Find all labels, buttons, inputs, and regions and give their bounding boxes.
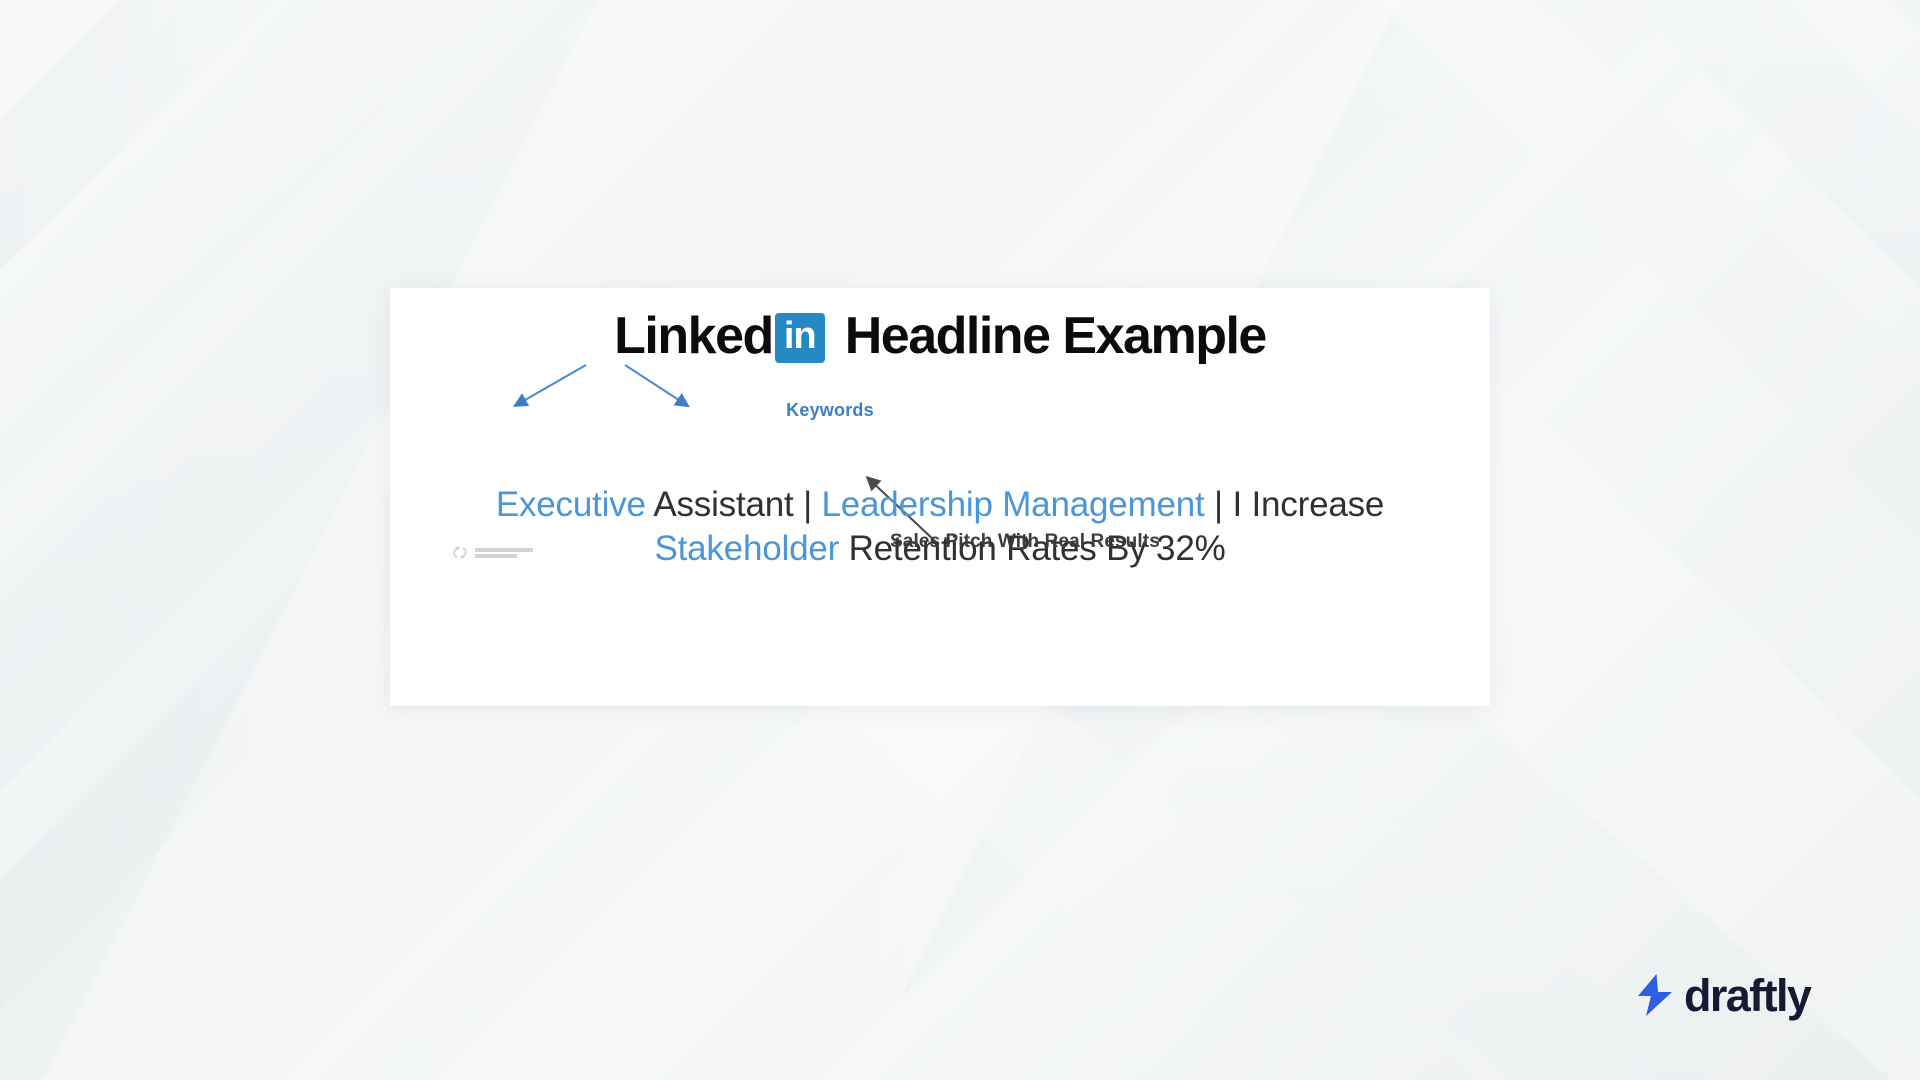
headline-plain-i-increase: | I Increase <box>1205 485 1385 524</box>
draftly-logo: draftly <box>1636 972 1810 1017</box>
headline-example-card: Linked in Headline Example Keywords <box>390 288 1490 706</box>
lightning-bolt-icon <box>1636 973 1674 1017</box>
sales-pitch-annotation: Sales Pitch With Real Results <box>890 531 1160 553</box>
slide-canvas: Linked in Headline Example Keywords <box>0 0 1920 1080</box>
headline-line-1: Executive Assistant | Leadership Managem… <box>390 486 1490 523</box>
headline-divider-1: | <box>803 485 821 524</box>
headline-keyword-executive: Executive <box>496 485 646 524</box>
draftly-wordmark: draftly <box>1684 973 1810 1018</box>
headline-keyword-stakeholder: Stakeholder <box>654 529 839 568</box>
source-watermark-wordmark <box>475 548 533 558</box>
headline-keyword-leadership-management: Leadership Management <box>822 485 1205 524</box>
keywords-arrow-left <box>518 365 586 404</box>
keywords-arrow-right <box>625 365 685 404</box>
source-watermark-logo <box>452 546 533 559</box>
recycle-arrows-icon <box>452 546 468 559</box>
headline-text-block: Executive Assistant | Leadership Managem… <box>390 486 1490 567</box>
headline-plain-assistant: Assistant <box>646 485 803 524</box>
